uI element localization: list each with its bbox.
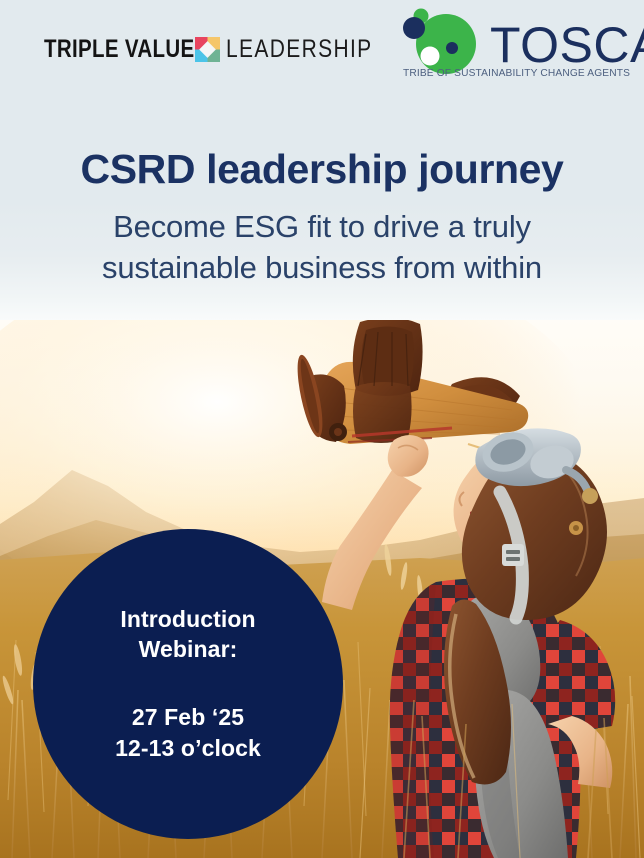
tosca-logo[interactable]: TOSCA TRIBE OF SUSTAINABILITY CHANGE AGE… <box>398 8 620 84</box>
badge-schedule: 27 Feb ‘25 12-13 o’clock <box>115 702 261 764</box>
leadership-wordmark: LEADERSHIP <box>226 37 372 62</box>
badge-heading-line-1: Introduction <box>120 604 255 634</box>
logo-row: TRIPLE VALUE LEADERSHIP TOSCA TRIBE OF S… <box>0 0 644 100</box>
subtitle-line-2: sustainable business from within <box>0 248 644 289</box>
triple-value-wordmark: TRIPLE VALUE <box>44 37 194 62</box>
poster-root: TRIPLE VALUE LEADERSHIP TOSCA TRIBE OF S… <box>0 0 644 858</box>
badge-date: 27 Feb ‘25 <box>115 702 261 733</box>
badge-heading: Introduction Webinar: <box>120 604 255 665</box>
triple-value-leadership-logo[interactable]: TRIPLE VALUE LEADERSHIP <box>44 34 400 64</box>
badge-time: 12-13 o’clock <box>115 733 261 764</box>
page-subtitle: Become ESG fit to drive a truly sustaina… <box>0 207 644 289</box>
page-title: CSRD leadership journey <box>0 148 644 191</box>
subtitle-line-1: Become ESG fit to drive a truly <box>0 207 644 248</box>
badge-heading-line-2: Webinar: <box>120 634 255 664</box>
heading-block: CSRD leadership journey Become ESG fit t… <box>0 148 644 289</box>
tosca-tagline: TRIBE OF SUSTAINABILITY CHANGE AGENTS <box>403 68 630 79</box>
webinar-badge[interactable]: Introduction Webinar: 27 Feb ‘25 12-13 o… <box>33 529 343 839</box>
tosca-wordmark: TOSCA <box>490 20 644 70</box>
four-quadrant-diamond-icon <box>195 37 220 62</box>
